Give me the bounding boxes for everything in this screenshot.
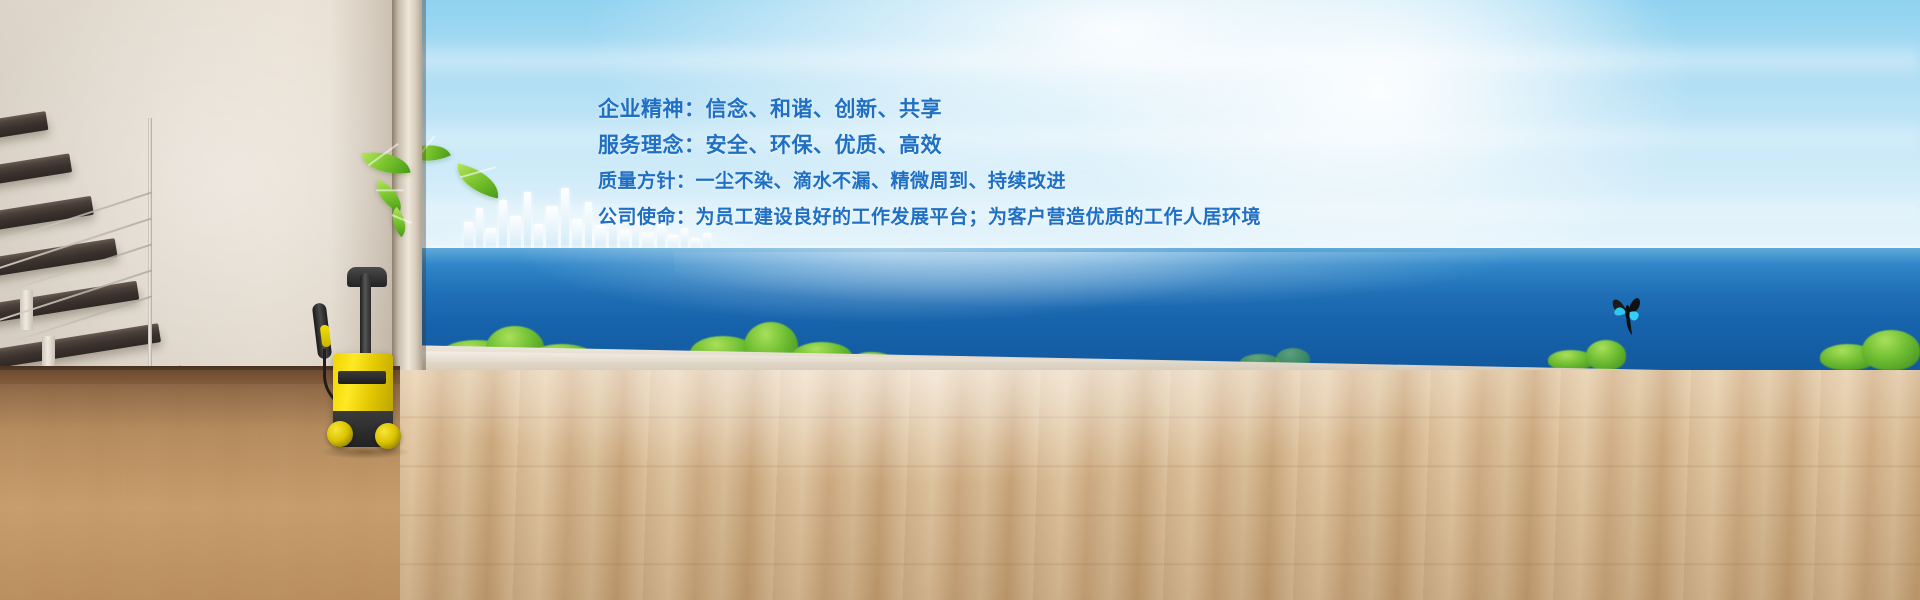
pressure-washer bbox=[305, 253, 420, 458]
butterfly-icon bbox=[1605, 288, 1651, 336]
copy-line-spirit: 企业精神：信念、和谐、创新、共享 bbox=[598, 92, 1358, 128]
copy-line-quality: 质量方针：一尘不染、滴水不漏、精微周到、持续改进 bbox=[598, 164, 1358, 200]
spray-gun-trigger bbox=[320, 325, 332, 348]
pressure-washer-label bbox=[338, 371, 386, 384]
ocean-sparkle bbox=[674, 252, 1556, 312]
pressure-washer-shadow bbox=[319, 445, 411, 459]
butterfly bbox=[1605, 288, 1651, 336]
wheel bbox=[375, 423, 401, 449]
copy-line-service: 服务理念：安全、环保、优质、高效 bbox=[598, 128, 1358, 164]
company-values-text: 企业精神：信念、和谐、创新、共享 服务理念：安全、环保、优质、高效 质量方针：一… bbox=[598, 92, 1358, 236]
cloud-band bbox=[400, 40, 1920, 80]
copy-line-mission: 公司使命：为员工建设良好的工作发展平台；为客户营造优质的工作人居环境 bbox=[598, 200, 1358, 236]
pressure-washer-mast bbox=[360, 273, 371, 365]
wheel bbox=[327, 421, 353, 447]
promo-banner: 企业精神：信念、和谐、创新、共享 服务理念：安全、环保、优质、高效 质量方针：一… bbox=[0, 0, 1920, 600]
